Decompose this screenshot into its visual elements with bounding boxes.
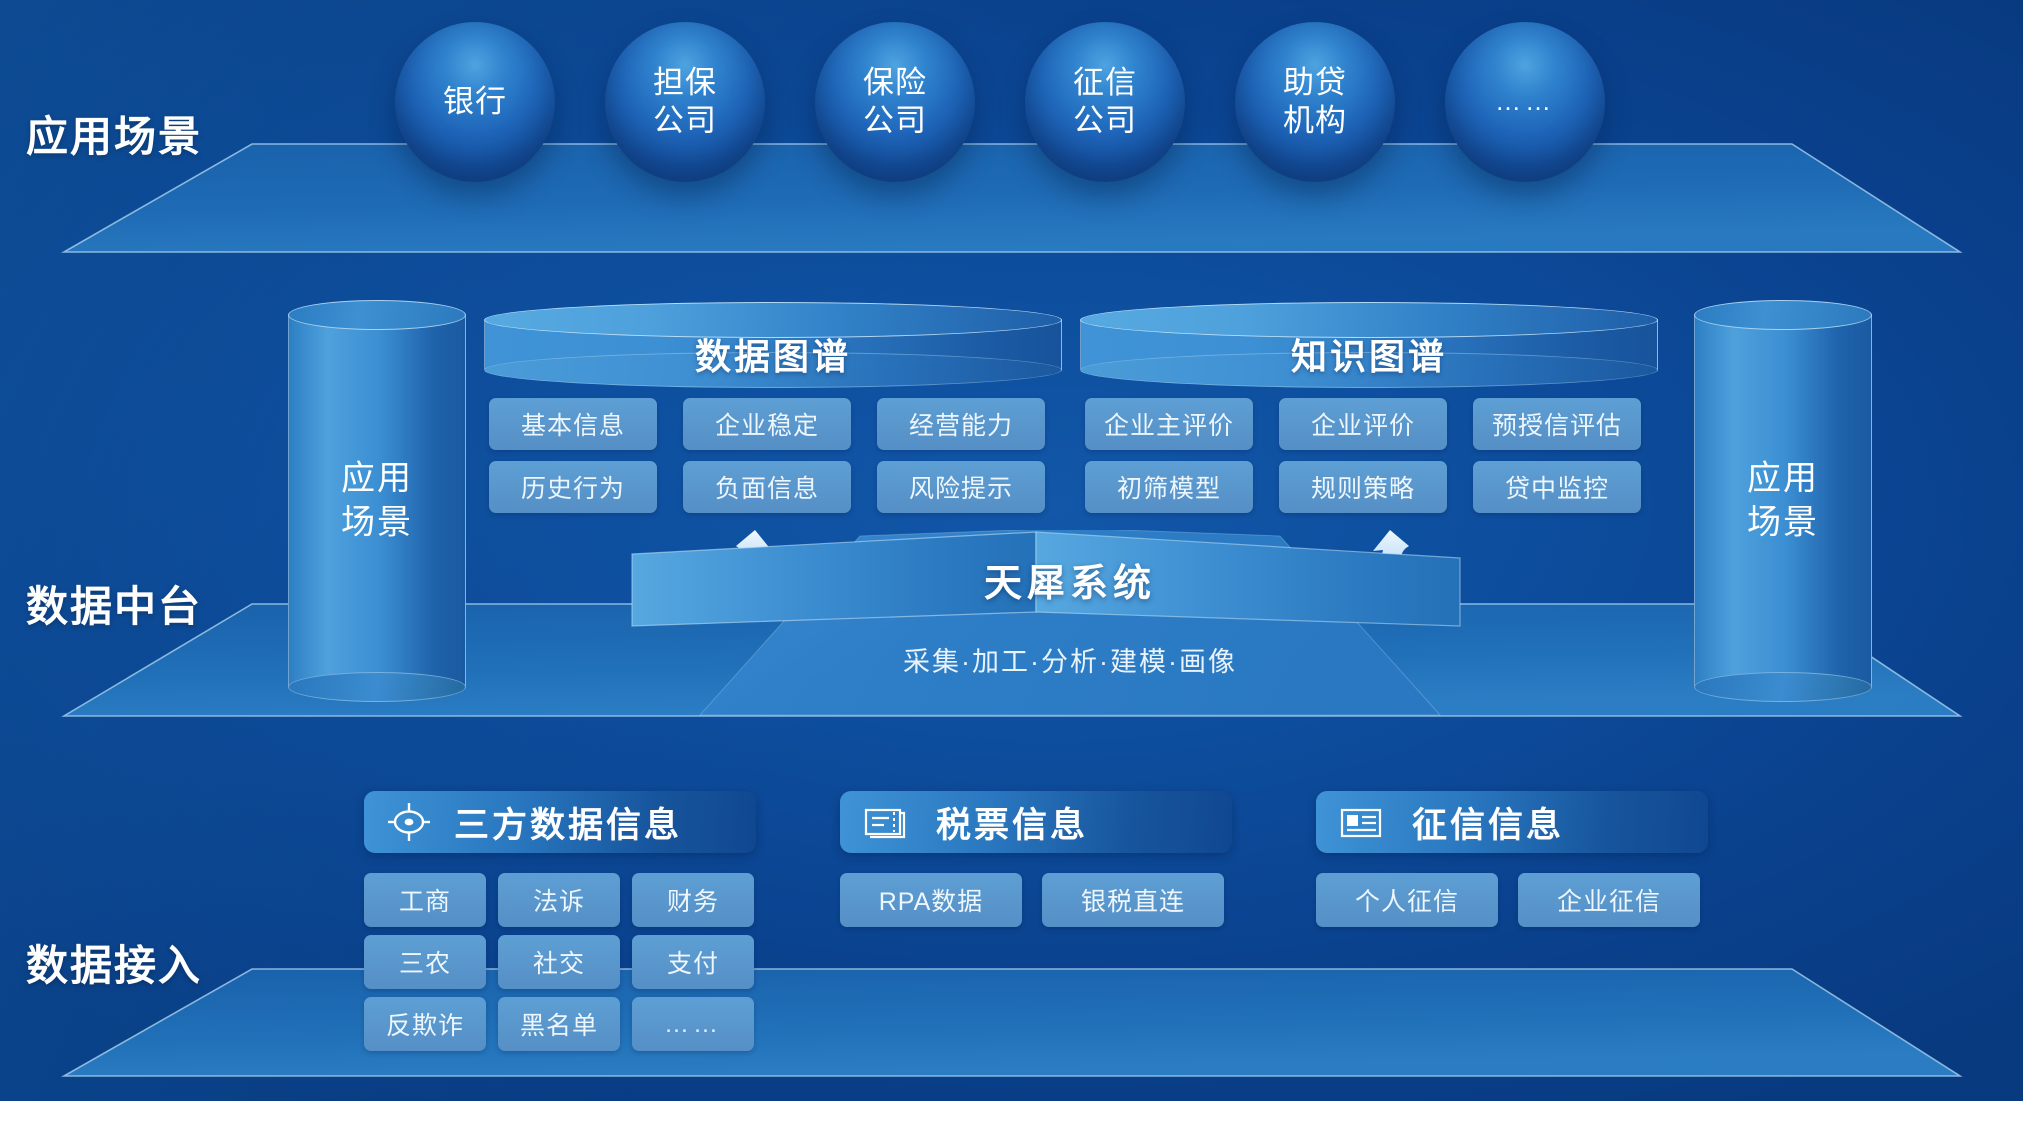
cylinder-label: 应用 场景 [288,457,466,544]
scenario-sphere-insurance-company[interactable]: 保险 公司 [815,22,975,182]
tag-chip-litigation[interactable]: 法诉 [498,873,620,927]
chip-label: …… [664,1010,722,1039]
chip-label: 财务 [667,882,719,918]
tag-chip-more-third-party[interactable]: …… [632,997,754,1051]
invoice-icon [858,795,912,849]
chip-label: 银税直连 [1081,882,1185,918]
data-source-title: 征信信息 [1412,797,1564,848]
chip-label: 工商 [399,882,451,918]
chip-label: 企业稳定 [715,406,819,442]
data-source-header-credit-reference[interactable]: 征信信息 [1316,791,1708,853]
disc-title: 数据图谱 [484,328,1062,380]
scenario-sphere-credit-company[interactable]: 征信 公司 [1025,22,1185,182]
scenario-sphere-loan-facilitation[interactable]: 助贷 机构 [1235,22,1395,182]
chip-label: 三农 [399,944,451,980]
core-system-title: 天犀系统 [560,552,1580,607]
data-source-header-tax-invoice[interactable]: 税票信息 [840,791,1232,853]
tag-chip-finance[interactable]: 财务 [632,873,754,927]
data-source-title: 税票信息 [936,797,1088,848]
chip-label: 贷中监控 [1505,469,1609,505]
cylinder-top [288,300,466,330]
chip-label: 基本信息 [521,406,625,442]
tag-chip-historical-behavior[interactable]: 历史行为 [489,461,657,513]
disc-title: 知识图谱 [1080,328,1658,380]
cylinder-top [1694,300,1872,330]
chip-label: 支付 [667,944,719,980]
cylinder-application-scenarios-left: 应用 场景 [288,300,466,702]
tag-chip-anti-fraud[interactable]: 反欺诈 [364,997,486,1051]
target-icon [382,795,436,849]
section-label-application-scenarios: 应用场景 [26,103,202,164]
chip-label: 初筛模型 [1117,469,1221,505]
cylinder-bottom [288,672,466,702]
platform-application-scenarios [0,140,2023,260]
section-label-data-access: 数据接入 [26,932,202,993]
cylinder-label: 应用 场景 [1694,457,1872,544]
scenario-sphere-more[interactable]: …… [1445,22,1605,182]
chip-label: 个人征信 [1355,882,1459,918]
tag-chip-rpa-data[interactable]: RPA数据 [840,873,1022,927]
data-source-header-third-party[interactable]: 三方数据信息 [364,791,756,853]
tag-chip-blacklist[interactable]: 黑名单 [498,997,620,1051]
scenario-sphere-label: 担保 公司 [653,64,717,140]
chip-label: 规则策略 [1311,469,1415,505]
chip-label: 反欺诈 [386,1006,464,1042]
chip-label: 企业主评价 [1104,406,1234,442]
tag-chip-payment[interactable]: 支付 [632,935,754,989]
chip-label: 预授信评估 [1492,406,1622,442]
chip-label: 经营能力 [909,406,1013,442]
scenario-sphere-label: 银行 [443,83,507,121]
tag-chip-rule-strategy[interactable]: 规则策略 [1279,461,1447,513]
architecture-diagram: 应用场景 数据中台 数据接入 银行 担保 公司 保险 公司 征信 公司 助贷 机… [0,0,2023,1130]
disc-knowledge-graph: 知识图谱 [1080,302,1658,392]
core-system-banner: 天犀系统 采集·加工·分析·建模·画像 [560,530,1580,720]
tag-chip-enterprise-evaluation[interactable]: 企业评价 [1279,398,1447,450]
scenario-sphere-label: 征信 公司 [1073,64,1137,140]
platform-data-access [0,965,2023,1085]
chip-label: 企业评价 [1311,406,1415,442]
chip-label: 企业征信 [1557,882,1661,918]
scenario-sphere-label: 助贷 机构 [1283,64,1347,140]
tag-chip-owner-evaluation[interactable]: 企业主评价 [1085,398,1253,450]
cylinder-application-scenarios-right: 应用 场景 [1694,300,1872,702]
scenario-sphere-bank[interactable]: 银行 [395,22,555,182]
tag-chip-screening-model[interactable]: 初筛模型 [1085,461,1253,513]
tag-chip-negative-info[interactable]: 负面信息 [683,461,851,513]
core-system-subtitle: 采集·加工·分析·建模·画像 [560,640,1580,679]
data-source-title: 三方数据信息 [454,797,682,848]
tag-chip-business-registry[interactable]: 工商 [364,873,486,927]
chip-label: 社交 [533,944,585,980]
tag-chip-personal-credit[interactable]: 个人征信 [1316,873,1498,927]
chip-label: 风险提示 [909,469,1013,505]
scenario-sphere-label: 保险 公司 [863,64,927,140]
cylinder-bottom [1694,672,1872,702]
section-label-data-middle-platform: 数据中台 [26,573,202,634]
tag-chip-operating-capability[interactable]: 经营能力 [877,398,1045,450]
tag-chip-pre-credit-assessment[interactable]: 预授信评估 [1473,398,1641,450]
tag-chip-enterprise-credit[interactable]: 企业征信 [1518,873,1700,927]
tag-chip-risk-alert[interactable]: 风险提示 [877,461,1045,513]
scenario-sphere-guarantee-company[interactable]: 担保 公司 [605,22,765,182]
disc-data-graph: 数据图谱 [484,302,1062,392]
id-card-icon [1334,795,1388,849]
chip-label: 历史行为 [521,469,625,505]
tag-chip-basic-info[interactable]: 基本信息 [489,398,657,450]
tag-chip-enterprise-stability[interactable]: 企业稳定 [683,398,851,450]
chip-label: 法诉 [533,882,585,918]
tag-chip-social[interactable]: 社交 [498,935,620,989]
tag-chip-bank-tax-link[interactable]: 银税直连 [1042,873,1224,927]
tag-chip-agriculture[interactable]: 三农 [364,935,486,989]
scenario-sphere-label: …… [1495,86,1555,118]
chip-label: 负面信息 [715,469,819,505]
chip-label: 黑名单 [520,1006,598,1042]
chip-label: RPA数据 [879,882,984,918]
tag-chip-in-loan-monitoring[interactable]: 贷中监控 [1473,461,1641,513]
